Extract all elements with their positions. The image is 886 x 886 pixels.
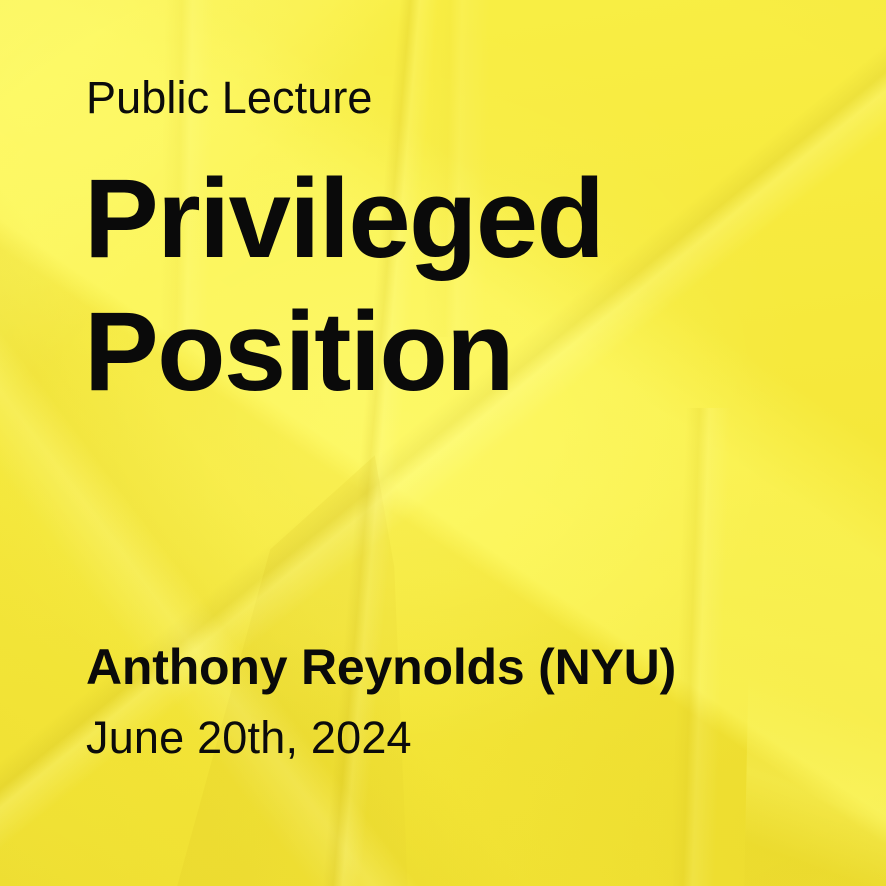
event-date: June 20th, 2024 xyxy=(86,713,412,763)
speaker-name-affiliation: Anthony Reynolds (NYU) xyxy=(86,640,676,695)
lecture-title-line-2: Position xyxy=(84,285,603,418)
lecture-title-line-1: Privileged xyxy=(84,152,603,285)
lecture-poster: Public Lecture Privileged Position Antho… xyxy=(0,0,886,886)
lecture-title: Privileged Position xyxy=(84,152,603,418)
poster-content: Public Lecture Privileged Position Antho… xyxy=(0,0,886,886)
event-type-label: Public Lecture xyxy=(86,74,373,121)
